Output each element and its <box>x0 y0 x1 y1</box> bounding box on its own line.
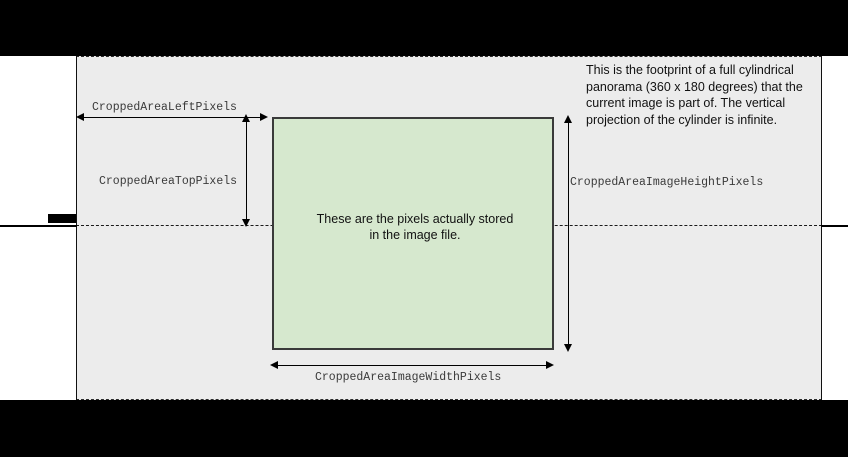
footprint-description-text: This is the footprint of a full cylindri… <box>586 62 826 128</box>
label-cropped-area-top-pixels: CroppedAreaTopPixels <box>99 175 237 188</box>
stored-pixels-caption-line-1: These are the pixels actually stored <box>317 212 514 226</box>
image-height-arrow-shaft <box>568 121 569 346</box>
top-pixels-arrowhead-end <box>242 219 250 227</box>
horizontal-centre-line-left <box>0 225 77 227</box>
label-cropped-area-left-pixels: CroppedAreaLeftPixels <box>92 101 237 114</box>
current-image-marker <box>48 214 76 223</box>
image-width-arrow-shaft <box>275 365 551 366</box>
left-pixels-arrowhead-end <box>260 113 268 121</box>
image-width-arrowhead-start <box>270 361 278 369</box>
stored-pixels-caption: These are the pixels actually stored in … <box>274 211 556 243</box>
stored-pixels-caption-line-2: in the image file. <box>369 228 460 242</box>
image-height-arrowhead-start <box>564 115 572 123</box>
left-pixels-arrow-shaft <box>79 117 265 118</box>
image-width-arrowhead-end <box>546 361 554 369</box>
panel-border-left <box>76 56 77 400</box>
left-pixels-arrowhead-start <box>76 113 84 121</box>
letterbox-band-bottom <box>0 400 848 457</box>
label-cropped-area-image-width-pixels: CroppedAreaImageWidthPixels <box>315 371 501 384</box>
panel-border-top-dashed <box>76 56 822 57</box>
horizontal-centre-line-right <box>821 225 848 227</box>
image-height-arrowhead-end <box>564 344 572 352</box>
top-pixels-arrowhead-start <box>242 114 250 122</box>
stored-pixels-rectangle: These are the pixels actually stored in … <box>272 117 554 350</box>
label-cropped-area-image-height-pixels: CroppedAreaImageHeightPixels <box>570 176 763 189</box>
panel-border-bottom-dashed <box>76 399 822 400</box>
letterbox-band-top <box>0 0 848 56</box>
diagram-canvas: This is the footprint of a full cylindri… <box>0 0 848 457</box>
top-pixels-arrow-shaft <box>246 120 247 222</box>
